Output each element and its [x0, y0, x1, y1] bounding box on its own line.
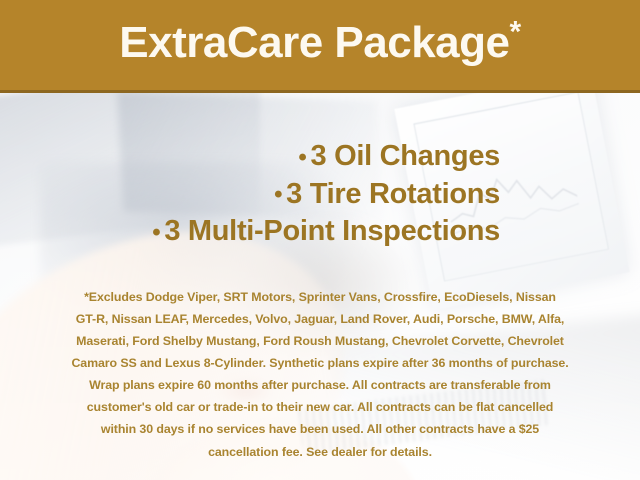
benefits-list: •3 Oil Changes •3 Tire Rotations •3 Mult…	[0, 138, 640, 251]
disclaimer-line: GT-R, Nissan LEAF, Mercedes, Volvo, Jagu…	[26, 308, 614, 330]
benefit-label: 3 Tire Rotations	[286, 178, 500, 210]
disclaimer-line: Camaro SS and Lexus 8-Cylinder. Syntheti…	[26, 352, 614, 374]
benefit-label: 3 Multi-Point Inspections	[164, 215, 500, 247]
list-item: •3 Oil Changes	[0, 138, 500, 176]
disclaimer-line: cancellation fee. See dealer for details…	[26, 441, 614, 463]
disclaimer-line: within 30 days if no services have been …	[26, 418, 614, 440]
disclaimer-line: Maserati, Ford Shelby Mustang, Ford Rous…	[26, 330, 614, 352]
disclaimer-line: Wrap plans expire 60 months after purcha…	[26, 374, 614, 396]
page-title-asterisk: *	[510, 15, 521, 48]
disclaimer-text: *Excludes Dodge Viper, SRT Motors, Sprin…	[26, 286, 614, 463]
header-band: ExtraCare Package*	[0, 0, 640, 90]
bullet-icon: •	[152, 219, 164, 246]
bullet-icon: •	[298, 144, 310, 171]
extracare-promo-banner: ExtraCare Package* •3 Oil Changes •3 Tir…	[0, 0, 640, 480]
header-divider	[0, 90, 640, 93]
page-title-text: ExtraCare Package	[119, 18, 509, 67]
benefit-label: 3 Oil Changes	[311, 140, 501, 172]
disclaimer-line: *Excludes Dodge Viper, SRT Motors, Sprin…	[26, 286, 614, 308]
bullet-icon: •	[274, 181, 286, 208]
list-item: •3 Tire Rotations	[0, 176, 500, 214]
disclaimer-line: customer's old car or trade-in to their …	[26, 396, 614, 418]
list-item: •3 Multi-Point Inspections	[0, 213, 500, 251]
page-title: ExtraCare Package*	[119, 21, 520, 69]
